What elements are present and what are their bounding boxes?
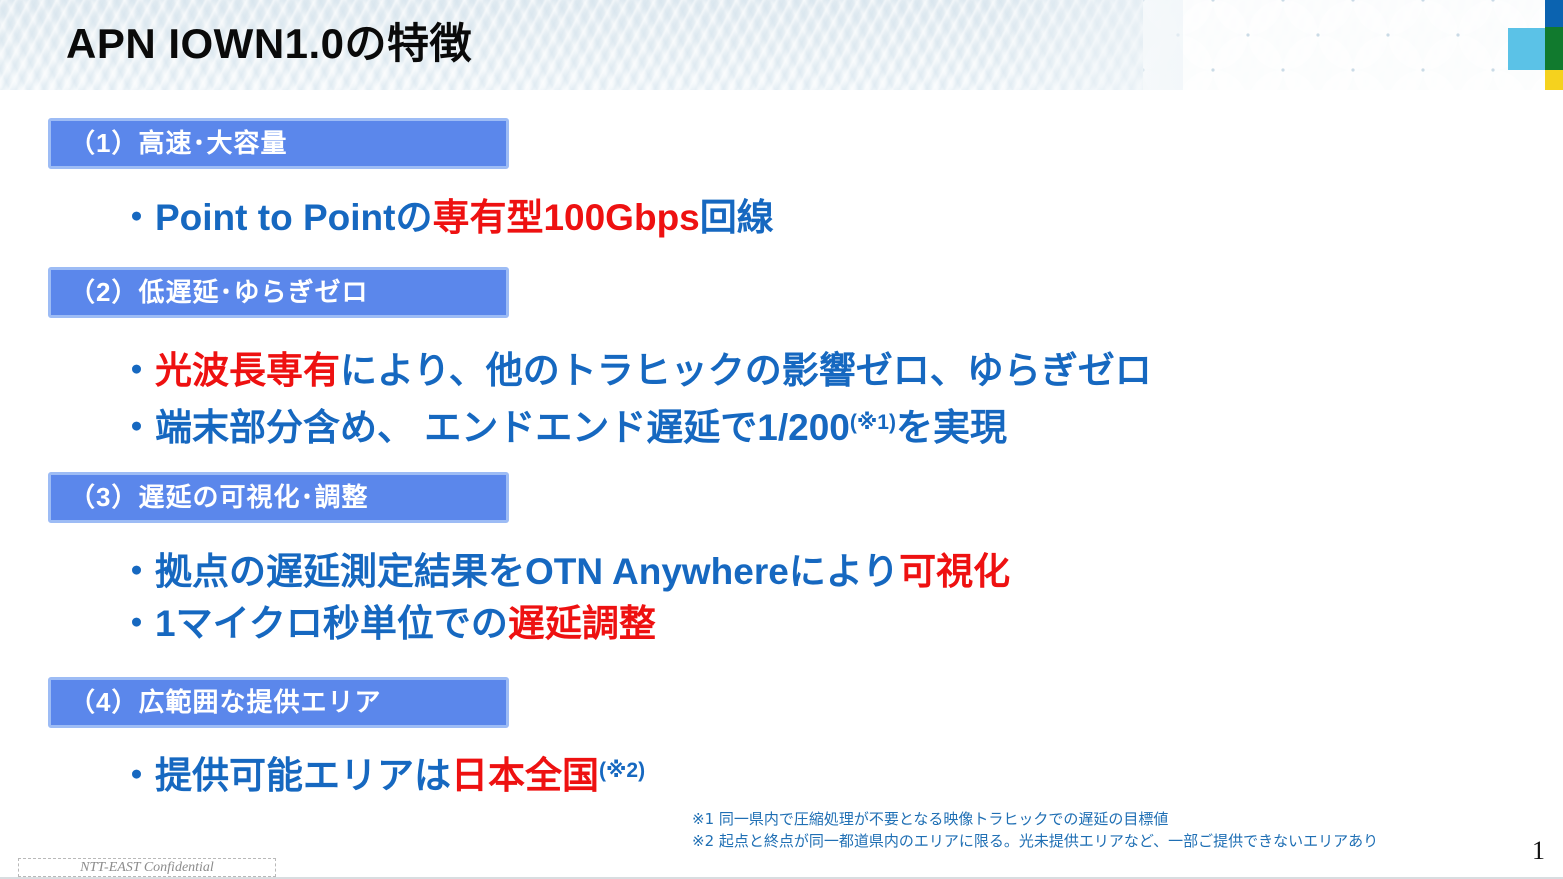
text-run-0: ・Point to Pointの	[118, 197, 432, 238]
accent-chip-green	[1545, 27, 1563, 70]
text-run-1: 日本全国	[451, 755, 599, 796]
text-run-1: (※1)	[850, 411, 896, 434]
page-title: APN IOWN1.0の特徴	[66, 16, 472, 72]
text-run-0: ・	[118, 350, 155, 391]
page-number: 1	[1532, 836, 1545, 866]
text-run-0: ・1マイクロ秒単位での	[118, 603, 508, 644]
section-heading-1: （1）高速･大容量	[48, 118, 509, 169]
bullet-line-3-1: ・拠点の遅延測定結果をOTN Anywhereにより可視化	[118, 549, 1010, 595]
text-run-1: 専有型100Gbps	[432, 197, 699, 238]
accent-chip-yellow	[1545, 70, 1563, 91]
header-pattern-fade	[983, 0, 1183, 91]
bullet-line-1-1: ・Point to Pointの専有型100Gbps回線	[118, 195, 774, 241]
footnote-1: ※1 同一県内で圧縮処理が不要となる映像トラヒックでの遅延の目標値	[692, 808, 1378, 830]
footnote-2: ※2 起点と終点が同一都道県内のエリアに限る。光未提供エリアなど、一部ご提供でき…	[692, 830, 1378, 852]
section-heading-4: （4）広範囲な提供エリア	[48, 677, 509, 728]
bullet-line-3-2: ・1マイクロ秒単位での遅延調整	[118, 601, 656, 647]
text-run-2: 回線	[700, 197, 774, 238]
header-divider	[0, 90, 1563, 92]
slide-root: APN IOWN1.0の特徴 （1）高速･大容量 ・Point to Point…	[0, 0, 1563, 879]
text-run-1: 遅延調整	[508, 603, 656, 644]
text-run-0: ・拠点の遅延測定結果をOTN Anywhereにより	[118, 551, 899, 592]
text-run-1: 光波長専有	[155, 350, 340, 391]
footnotes: ※1 同一県内で圧縮処理が不要となる映像トラヒックでの遅延の目標値 ※2 起点と…	[692, 808, 1378, 852]
text-run-1: 可視化	[899, 551, 1010, 592]
section-heading-2: （2）低遅延･ゆらぎゼロ	[48, 267, 509, 318]
text-run-2: (※2)	[599, 759, 645, 782]
accent-chip-navy	[1545, 0, 1563, 27]
section-heading-3: （3）遅延の可視化･調整	[48, 472, 509, 523]
bullet-line-4-1: ・提供可能エリアは日本全国(※2)	[118, 748, 645, 799]
text-run-0: ・端末部分含め、 エンドエンド遅延で1/200	[118, 407, 850, 448]
seigaiha-lattice-pattern-icon	[1143, 0, 1563, 91]
text-run-2: により、他のトラヒックの影響ゼロ、ゆらぎゼロ	[340, 350, 1152, 391]
text-run-2: を実現	[896, 407, 1007, 448]
bullet-line-2-2: ・端末部分含め、 エンドエンド遅延で1/200(※1)を実現	[118, 400, 1007, 451]
confidential-stamp: NTT-EAST Confidential	[18, 858, 276, 877]
text-run-0: ・提供可能エリアは	[118, 755, 451, 796]
bullet-line-2-1: ・光波長専有により、他のトラヒックの影響ゼロ、ゆらぎゼロ	[118, 348, 1152, 394]
